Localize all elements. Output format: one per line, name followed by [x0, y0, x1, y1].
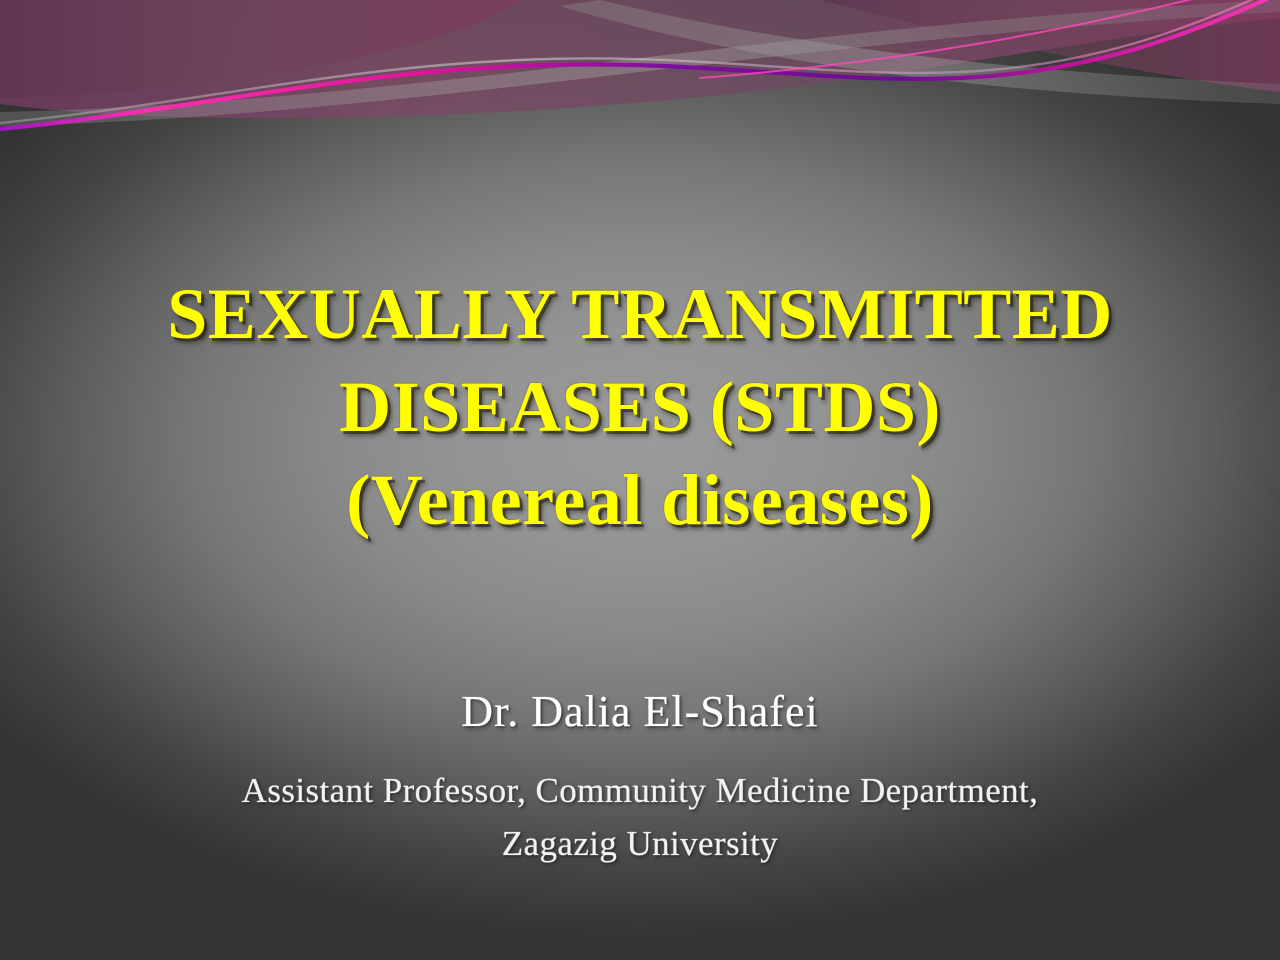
affiliation-line-1: Assistant Professor, Community Medicine …: [0, 764, 1280, 817]
subtitle-spacer: [0, 742, 1280, 764]
presenter-name: Dr. Dalia El-Shafei: [0, 682, 1280, 742]
title-line-3: (Venereal diseases): [0, 454, 1280, 547]
slide-title: SEXUALLY TRANSMITTED DISEASES (STDS) (Ve…: [0, 268, 1280, 547]
slide-subtitle: Dr. Dalia El-Shafei Assistant Professor,…: [0, 682, 1280, 870]
wave-primary-line: [0, 0, 1280, 130]
title-slide: SEXUALLY TRANSMITTED DISEASES (STDS) (Ve…: [0, 0, 1280, 960]
wave-mauve-right: [820, 0, 1280, 92]
wave-plum-fill: [0, 0, 1280, 118]
wave-gray-ribbon-lower: [0, 0, 1280, 126]
title-line-1: SEXUALLY TRANSMITTED: [0, 268, 1280, 361]
title-line-2: DISEASES (STDS): [0, 361, 1280, 454]
affiliation-line-2: Zagazig University: [0, 817, 1280, 870]
wave-gray-ribbon: [560, 0, 1280, 104]
wave-accent-line: [700, 0, 1280, 78]
wave-ribbon-svg: [0, 0, 1280, 150]
wave-mauve-left: [0, 0, 520, 98]
top-wave-decoration: [0, 0, 1280, 150]
wave-secondary-line: [0, 0, 1280, 124]
